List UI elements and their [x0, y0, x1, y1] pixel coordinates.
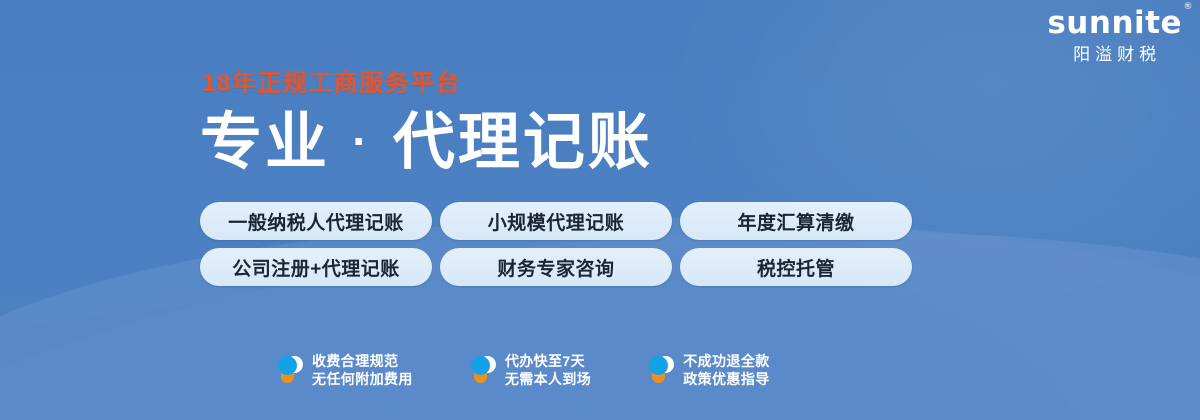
feature-item: 收费合理规范 无任何附加费用: [278, 352, 413, 389]
feature-item: 代办快至7天 无需本人到场: [471, 352, 591, 389]
hero-headline-separator: ·: [350, 115, 372, 167]
hero-headline: 专业 · 代理记账: [200, 112, 653, 174]
droplet-moon-icon: [649, 355, 674, 386]
feature-line-1: 收费合理规范: [312, 352, 413, 370]
feature-line-2: 无需本人到场: [505, 370, 591, 388]
logo-chinese-name: 阳溢财税: [1047, 46, 1182, 63]
feature-text: 收费合理规范 无任何附加费用: [312, 352, 413, 389]
hero-headline-left: 专业: [200, 108, 330, 177]
service-tag[interactable]: 公司注册+代理记账: [200, 248, 432, 286]
feature-list: 收费合理规范 无任何附加费用 代办快至7天 无需本人到场 不成功退全款: [278, 352, 770, 389]
dot-shape: [278, 356, 297, 375]
service-tag[interactable]: 一般纳税人代理记账: [200, 202, 432, 240]
hero-copy: 18年正规工商服务平台 专业 · 代理记账: [200, 72, 653, 174]
hero-eyebrow: 18年正规工商服务平台: [202, 72, 653, 96]
feature-text: 不成功退全款 政策优惠指导: [683, 352, 769, 389]
feature-item: 不成功退全款 政策优惠指导: [649, 352, 769, 389]
feature-line-1: 代办快至7天: [505, 352, 591, 370]
logo-wordmark-text: sunnite: [1047, 5, 1182, 41]
service-tag-list: 一般纳税人代理记账 小规模代理记账 年度汇算清缴 公司注册+代理记账 财务专家咨…: [200, 202, 916, 286]
service-tag[interactable]: 财务专家咨询: [440, 248, 672, 286]
brand-logo[interactable]: sunnite ® 阳溢财税: [1047, 8, 1182, 63]
hero-headline-right: 代理记账: [393, 108, 653, 177]
feature-text: 代办快至7天 无需本人到场: [505, 352, 591, 389]
service-tag[interactable]: 税控托管: [680, 248, 912, 286]
droplet-moon-icon: [278, 355, 303, 386]
promo-banner: sunnite ® 阳溢财税 18年正规工商服务平台 专业 · 代理记账 一般纳…: [0, 0, 1200, 420]
service-tag[interactable]: 年度汇算清缴: [680, 202, 912, 240]
feature-line-2: 无任何附加费用: [312, 370, 413, 388]
droplet-moon-icon: [471, 355, 496, 386]
feature-line-2: 政策优惠指导: [683, 370, 769, 388]
dot-shape: [471, 356, 490, 375]
service-tag[interactable]: 小规模代理记账: [440, 202, 672, 240]
feature-line-1: 不成功退全款: [683, 352, 769, 370]
registered-trademark-icon: ®: [1184, 3, 1194, 12]
logo-wordmark: sunnite ®: [1047, 8, 1182, 39]
